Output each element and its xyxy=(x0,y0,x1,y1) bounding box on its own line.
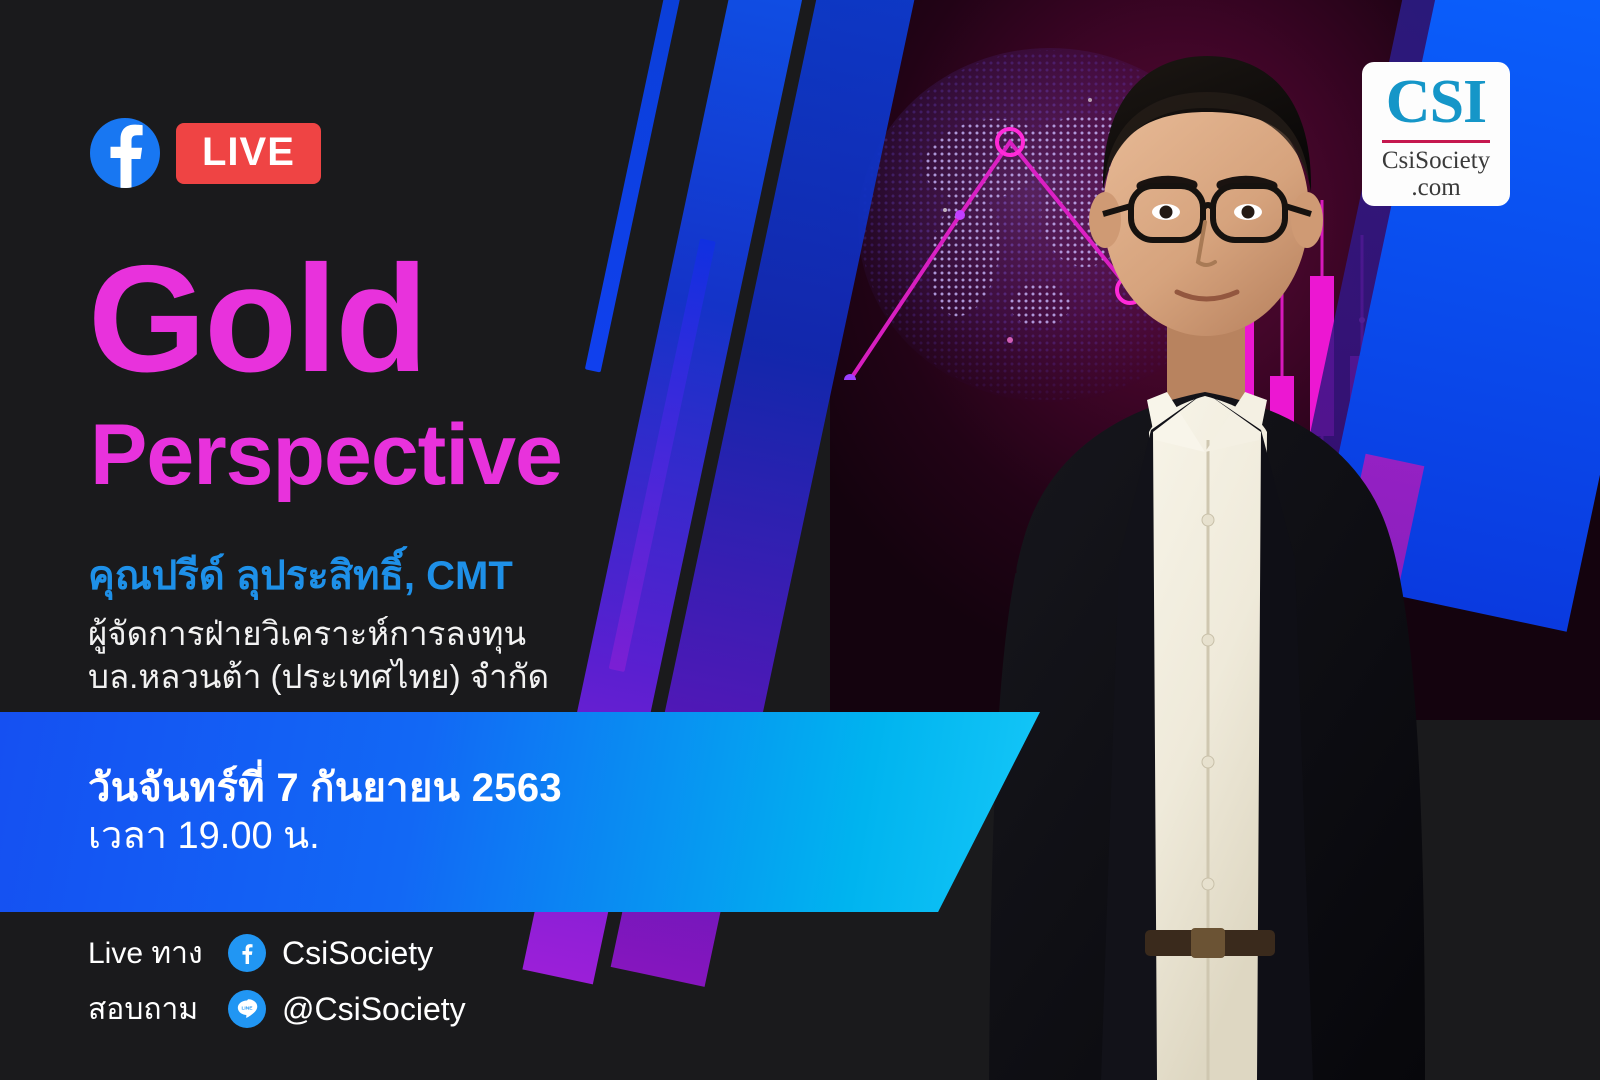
contact-handle-facebook[interactable]: CsiSociety xyxy=(282,935,433,972)
page-title: Gold xyxy=(88,243,426,395)
contact-row-line[interactable]: สอบถาม LINE @CsiSociety xyxy=(88,981,466,1037)
promo-poster: วันจันทร์ที่ 7 กันยายน 2563 เวลา 19.00 น… xyxy=(0,0,1600,1080)
csi-society-logo[interactable]: CSI CsiSociety .com xyxy=(1362,62,1510,206)
csi-logo-mark: CSI xyxy=(1386,66,1486,139)
svg-text:LINE: LINE xyxy=(241,1005,253,1011)
csi-logo-name: CsiSociety xyxy=(1382,148,1490,174)
contact-label-line: สอบถาม xyxy=(88,986,228,1033)
contact-handle-line[interactable]: @CsiSociety xyxy=(282,991,466,1028)
speaker-role: ผู้จัดการฝ่ายวิเคราะห์การลงทุน xyxy=(88,612,526,656)
contact-label-facebook: Live ทาง xyxy=(88,930,228,977)
date-banner: วันจันทร์ที่ 7 กันยายน 2563 เวลา 19.00 น… xyxy=(0,712,1040,912)
csi-logo-domain: .com xyxy=(1411,174,1460,203)
facebook-live-badge[interactable]: LIVE xyxy=(90,118,321,188)
speaker-organization: บล.หลวนต้า (ประเทศไทย) จำกัด xyxy=(88,655,549,699)
facebook-f-icon[interactable] xyxy=(90,118,160,188)
facebook-f-icon[interactable] xyxy=(228,934,266,972)
speaker-name: คุณปรีด์ ลุประสิทธิ์, CMT xyxy=(88,552,513,600)
line-app-icon[interactable]: LINE xyxy=(228,990,266,1028)
event-date: วันจันทร์ที่ 7 กันยายน 2563 xyxy=(88,764,1040,813)
csi-logo-divider xyxy=(1382,140,1490,143)
contact-row-facebook[interactable]: Live ทาง CsiSociety xyxy=(88,925,466,981)
live-label[interactable]: LIVE xyxy=(176,123,321,184)
contact-list: Live ทาง CsiSociety สอบถาม LINE @CsiSoci… xyxy=(88,925,466,1037)
page-subtitle: Perspective xyxy=(90,412,562,498)
event-time: เวลา 19.00 น. xyxy=(88,813,1040,861)
